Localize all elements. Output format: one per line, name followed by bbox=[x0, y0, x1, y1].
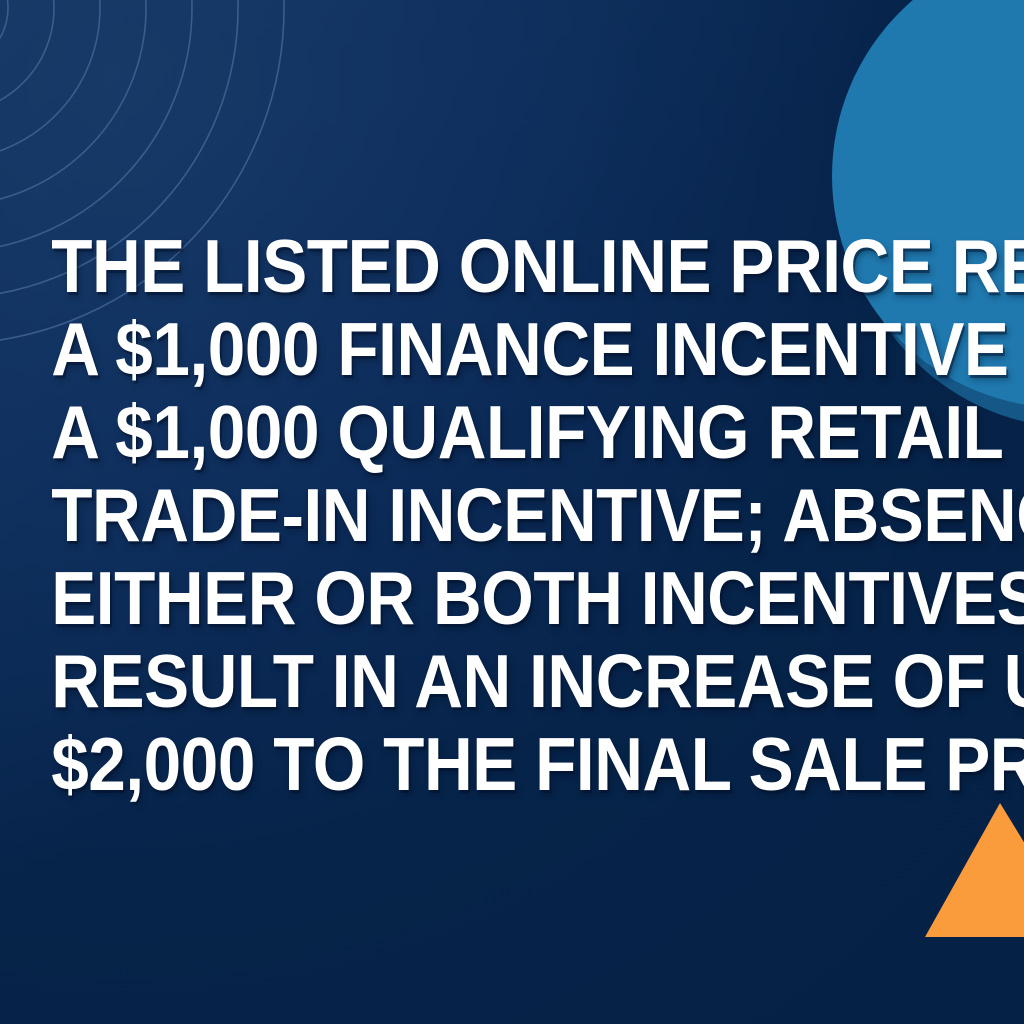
arc-ring bbox=[0, 0, 8, 68]
arc-ring bbox=[0, 0, 146, 206]
arc-ring bbox=[0, 0, 238, 298]
accent-circle bbox=[832, 0, 1024, 408]
promo-graphic-canvas: THE LISTED ONLINE PRICE REFLECTS A $1,00… bbox=[0, 0, 1024, 1024]
accent-triangle bbox=[925, 803, 1024, 937]
concentric-arcs-icon bbox=[0, 0, 284, 344]
arc-ring bbox=[0, 0, 100, 160]
arc-ring bbox=[0, 0, 284, 344]
decorative-shapes-layer bbox=[0, 0, 1024, 1024]
arc-ring bbox=[0, 0, 192, 252]
